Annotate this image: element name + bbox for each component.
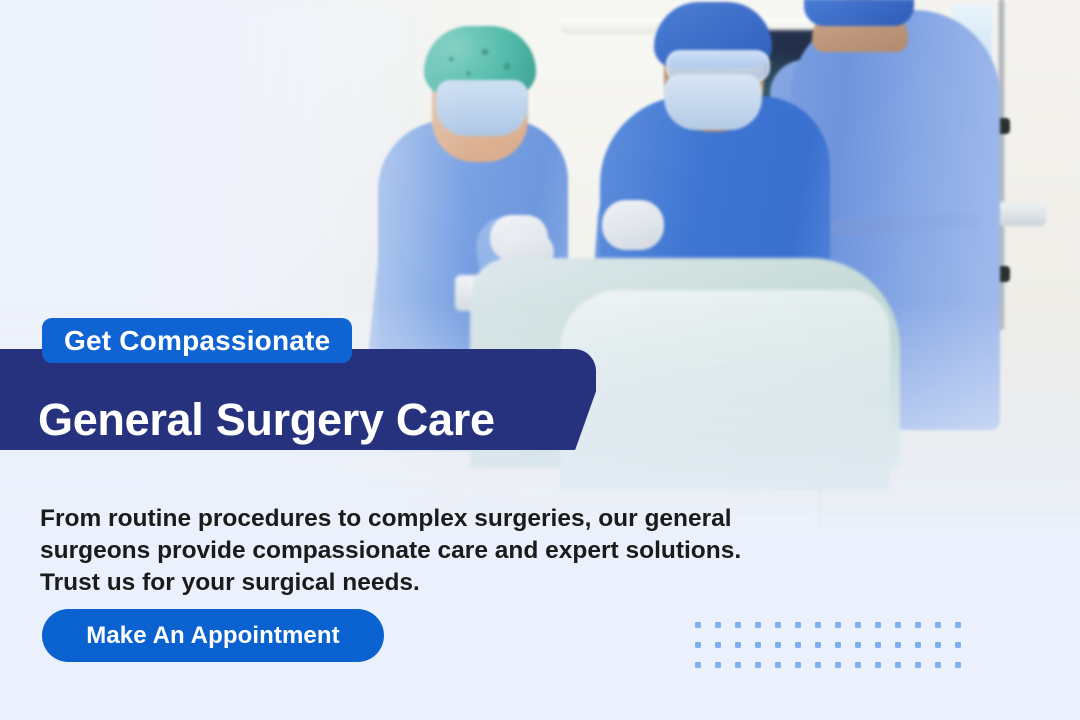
body-copy-line-1: From routine procedures to complex surge…: [40, 503, 880, 535]
page-title: General Surgery Care: [38, 394, 495, 446]
dot: [855, 662, 861, 668]
hero-banner: Get Compassionate General Surgery Care F…: [0, 0, 1080, 720]
dot: [895, 642, 901, 648]
dot: [935, 662, 941, 668]
dot: [855, 642, 861, 648]
dot: [895, 662, 901, 668]
dot: [695, 662, 701, 668]
dot: [875, 662, 881, 668]
dot: [835, 642, 841, 648]
surgical-glove-icon: [602, 200, 664, 250]
dot: [955, 622, 961, 628]
dot: [695, 642, 701, 648]
dot: [735, 622, 741, 628]
dot: [715, 642, 721, 648]
dot: [695, 622, 701, 628]
dot: [815, 662, 821, 668]
dot: [835, 662, 841, 668]
dot: [815, 622, 821, 628]
dot: [795, 622, 801, 628]
dot: [915, 622, 921, 628]
dot: [935, 642, 941, 648]
dot: [775, 642, 781, 648]
dot: [955, 662, 961, 668]
dot: [735, 642, 741, 648]
dot: [875, 642, 881, 648]
body-copy: From routine procedures to complex surge…: [40, 503, 880, 599]
dot: [755, 642, 761, 648]
surgical-mask-icon: [664, 74, 762, 130]
dot: [755, 662, 761, 668]
dot: [775, 662, 781, 668]
body-copy-line-3: Trust us for your surgical needs.: [40, 567, 880, 599]
dot-grid-decoration: [695, 622, 975, 682]
make-an-appointment-button[interactable]: Make An Appointment: [42, 609, 384, 662]
dot: [835, 622, 841, 628]
eyebrow-badge: Get Compassionate: [42, 318, 352, 363]
dot: [735, 662, 741, 668]
dot: [935, 622, 941, 628]
dot: [915, 642, 921, 648]
dot: [755, 622, 761, 628]
dot: [955, 642, 961, 648]
body-copy-line-2: surgeons provide compassionate care and …: [40, 535, 880, 567]
dot: [895, 622, 901, 628]
dot: [715, 662, 721, 668]
dot: [775, 622, 781, 628]
dot: [815, 642, 821, 648]
dot: [875, 622, 881, 628]
dot: [855, 622, 861, 628]
dot: [795, 642, 801, 648]
surgeon-back-cap-icon: [804, 0, 914, 26]
dot: [915, 662, 921, 668]
dot: [715, 622, 721, 628]
dot: [795, 662, 801, 668]
